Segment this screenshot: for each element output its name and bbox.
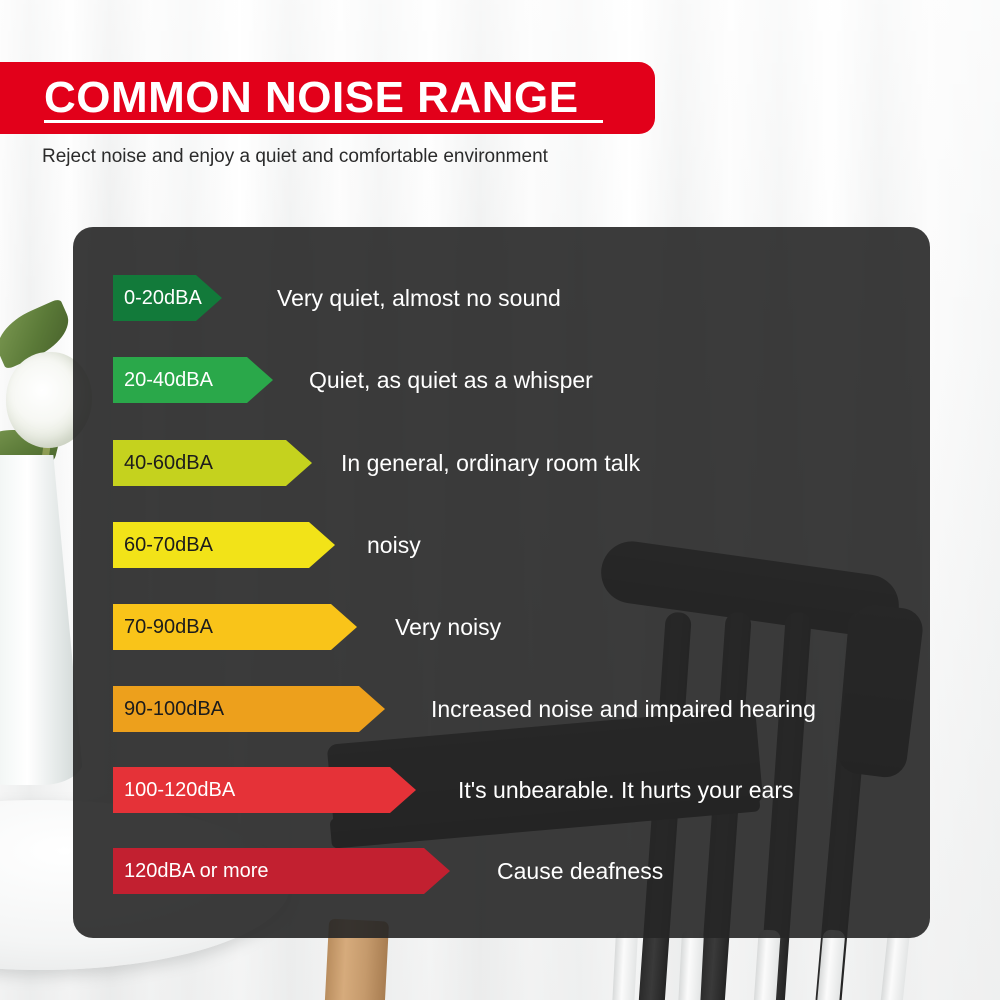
noise-range-list: 0-20dBAVery quiet, almost no sound20-40d…	[0, 0, 1000, 1000]
range-label: 120dBA or more	[113, 860, 269, 883]
range-label: 20-40dBA	[113, 369, 213, 392]
range-description: Very quiet, almost no sound	[277, 275, 561, 321]
range-label: 100-120dBA	[113, 779, 235, 802]
range-description: Quiet, as quiet as a whisper	[309, 357, 593, 403]
range-label: 60-70dBA	[113, 534, 213, 557]
range-label: 40-60dBA	[113, 452, 213, 475]
range-arrow: 20-40dBA	[113, 357, 273, 403]
range-label: 70-90dBA	[113, 616, 213, 639]
range-description: Increased noise and impaired hearing	[431, 686, 816, 732]
range-label: 90-100dBA	[113, 698, 224, 721]
range-label: 0-20dBA	[113, 287, 202, 310]
range-description: In general, ordinary room talk	[341, 440, 640, 486]
range-arrow: 90-100dBA	[113, 686, 385, 732]
range-arrow: 40-60dBA	[113, 440, 312, 486]
range-description: noisy	[367, 522, 421, 568]
range-arrow: 120dBA or more	[113, 848, 450, 894]
range-arrow: 0-20dBA	[113, 275, 222, 321]
range-arrow: 70-90dBA	[113, 604, 357, 650]
range-description: Cause deafness	[497, 848, 663, 894]
range-description: Very noisy	[395, 604, 501, 650]
range-arrow: 100-120dBA	[113, 767, 416, 813]
range-description: It's unbearable. It hurts your ears	[458, 767, 794, 813]
range-arrow: 60-70dBA	[113, 522, 335, 568]
